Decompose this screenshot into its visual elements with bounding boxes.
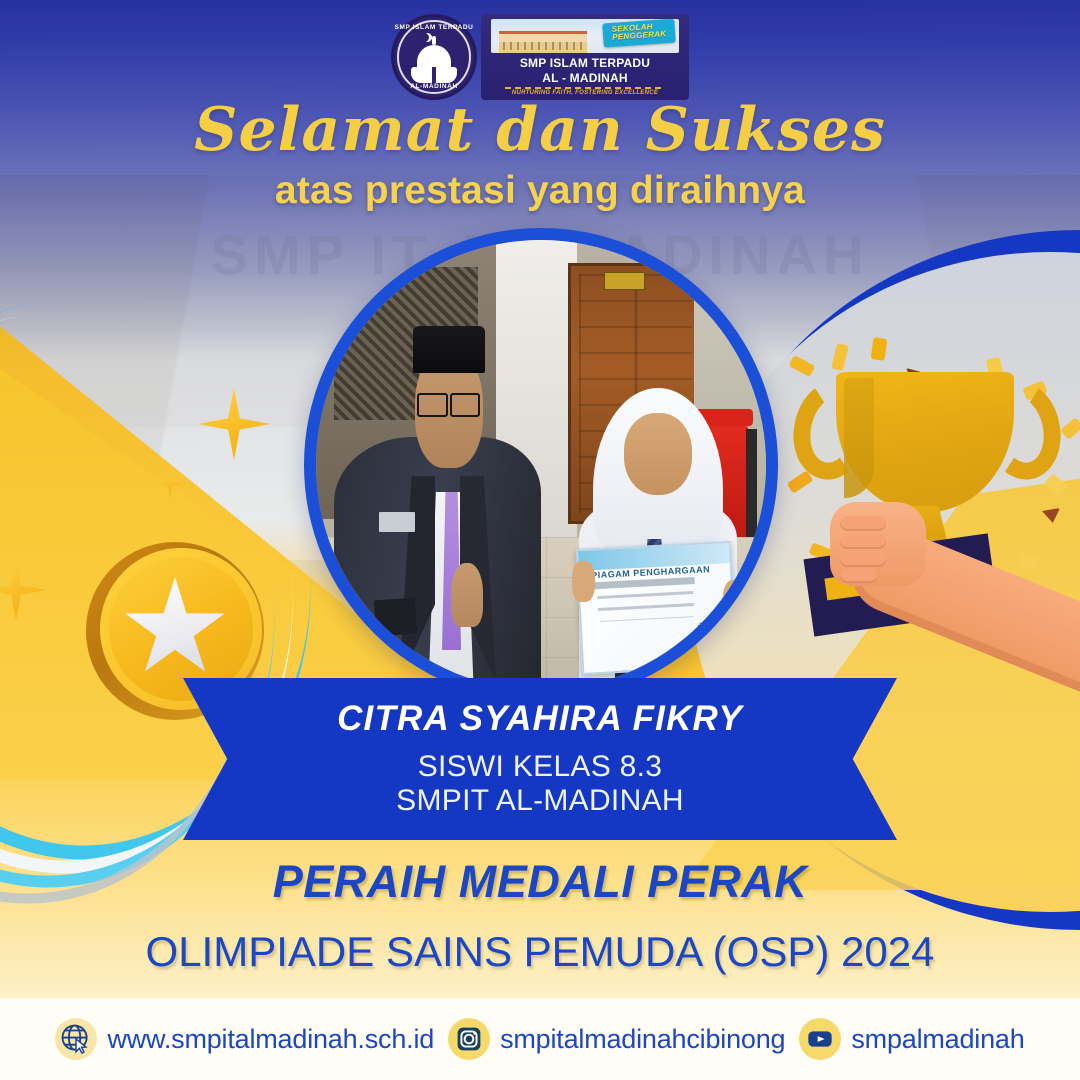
youtube-handle: smpalmadinah xyxy=(851,1024,1024,1055)
fist-icon xyxy=(830,502,926,586)
confetti-piece xyxy=(871,337,888,361)
footer-instagram-item[interactable]: smpitalmadinahcibinong xyxy=(448,1018,785,1060)
youtube-icon xyxy=(799,1018,841,1060)
plate-name-line-1: SMP ISLAM TERPADU xyxy=(491,56,679,70)
plate-name-line-2: AL - MADINAH xyxy=(491,71,679,85)
achievement-event: OLIMPIADE SAINS PEMUDA (OSP) 2024 xyxy=(0,928,1080,976)
student-figure: PIAGAM PENGHARGAAN xyxy=(568,375,748,690)
student-details: SISWI KELAS 8.3 SMPIT AL-MADINAH xyxy=(396,750,684,817)
student-hand-left xyxy=(572,561,595,602)
confetti-piece xyxy=(1060,417,1080,440)
instagram-handle: smpitalmadinahcibinong xyxy=(500,1024,785,1055)
trophy-cup-shade xyxy=(844,378,874,498)
confetti-piece xyxy=(1044,473,1068,497)
principal-figure xyxy=(325,294,550,690)
plate-divider xyxy=(505,87,665,89)
website-url: www.smpitalmadinah.sch.id xyxy=(107,1024,434,1055)
finger xyxy=(840,534,886,549)
confetti-piece xyxy=(789,355,816,377)
student-school: SMPIT AL-MADINAH xyxy=(396,784,684,818)
headline-script: Selamat dan Sukses xyxy=(0,100,1080,160)
student-name: CITRA SYAHIRA FIKRY xyxy=(337,701,743,736)
open-book-icon xyxy=(411,67,457,83)
school-building-illustration: SEKOLAH PENGGERAK xyxy=(491,19,679,53)
poster-canvas: SMP ISLAM TERPADU AL-MADINAH SEKOLAH PEN… xyxy=(0,0,1080,1080)
footer-youtube-item[interactable]: smpalmadinah xyxy=(799,1018,1024,1060)
seal-bottom-text: AL-MADINAH xyxy=(394,83,474,90)
confetti-piece xyxy=(1019,554,1040,571)
glasses-icon xyxy=(417,393,480,413)
finger xyxy=(840,516,886,531)
globe-icon xyxy=(55,1018,97,1060)
finger xyxy=(840,568,878,583)
school-logo-bar: SMP ISLAM TERPADU AL-MADINAH SEKOLAH PEN… xyxy=(391,14,689,100)
qr-code-icon xyxy=(698,622,724,655)
certificate-icon: PIAGAM PENGHARGAAN xyxy=(576,541,737,675)
student-class: SISWI KELAS 8.3 xyxy=(396,750,684,784)
student-photo: PIAGAM PENGHARGAAN xyxy=(316,240,766,690)
trophy-cup-icon xyxy=(836,372,1014,512)
principal-name-badge xyxy=(379,512,415,532)
student-photo-frame: PIAGAM PENGHARGAAN xyxy=(304,228,778,702)
sekolah-penggerak-badge: SEKOLAH PENGGERAK xyxy=(602,19,676,47)
seal-top-text: SMP ISLAM TERPADU xyxy=(394,24,474,31)
photo-bg-room-plate xyxy=(604,272,645,290)
principal-pocket xyxy=(373,598,416,636)
headline-subtitle: atas prestasi yang diraihnya xyxy=(0,170,1080,213)
instagram-icon xyxy=(448,1018,490,1060)
crescent-icon xyxy=(420,33,429,42)
badge-line-2: PENGGERAK xyxy=(612,31,667,43)
plate-tagline: NURTURING FAITH, FOSTERING EXCELLENCE xyxy=(491,90,679,96)
thumbs-up-icon xyxy=(451,563,483,626)
student-name-ribbon: CITRA SYAHIRA FIKRY SISWI KELAS 8.3 SMPI… xyxy=(183,678,897,840)
achievement-title: PERAIH MEDALI PERAK xyxy=(0,856,1080,908)
headline-block: Selamat dan Sukses atas prestasi yang di… xyxy=(0,100,1080,213)
footer-contact-bar: www.smpitalmadinah.sch.id smpitalmadinah… xyxy=(0,998,1080,1080)
peci-cap-icon xyxy=(413,326,485,374)
footer-website-item[interactable]: www.smpitalmadinah.sch.id xyxy=(55,1018,434,1060)
certificate-title: PIAGAM PENGHARGAAN xyxy=(591,564,710,580)
finger xyxy=(840,552,886,567)
school-building-icon xyxy=(499,31,587,53)
school-seal-icon: SMP ISLAM TERPADU AL-MADINAH xyxy=(391,14,477,100)
student-face xyxy=(624,413,692,495)
student-hand-right xyxy=(723,580,746,621)
school-name-plate: SEKOLAH PENGGERAK SMP ISLAM TERPADU AL -… xyxy=(481,14,689,99)
plate-school-name: SMP ISLAM TERPADU AL - MADINAH xyxy=(491,56,679,84)
confetti-piece-dark xyxy=(1042,508,1060,523)
